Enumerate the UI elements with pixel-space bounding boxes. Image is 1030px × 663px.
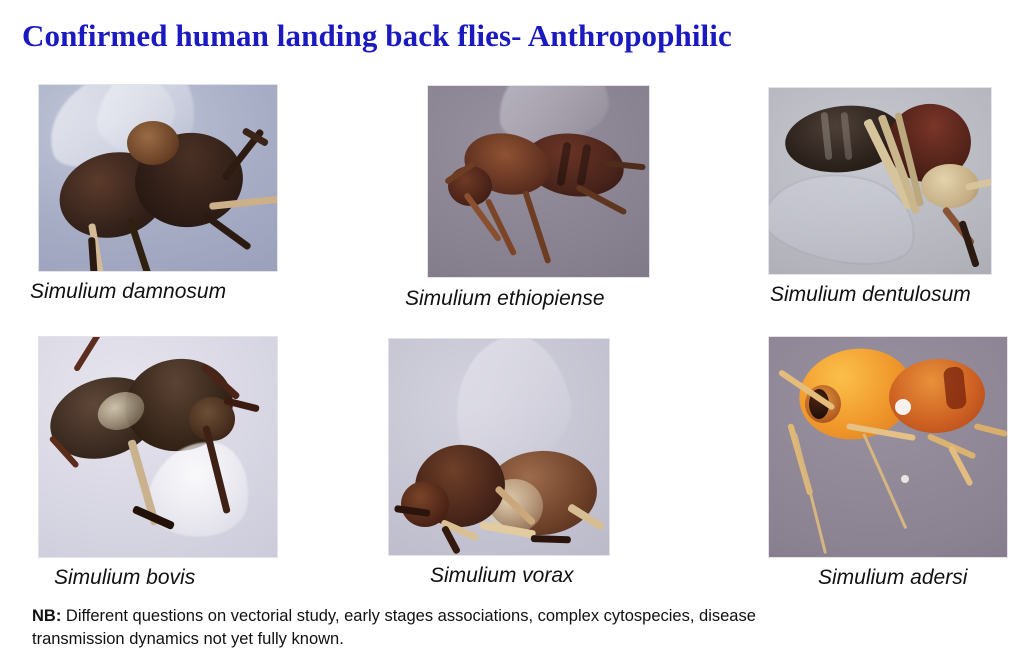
fly-head (127, 121, 179, 165)
figure-simulium-dentulosum: Simulium dentulosum (768, 87, 992, 275)
figure-simulium-bovis: Simulium bovis (38, 336, 278, 558)
caption-simulium-adersi: Simulium adersi (818, 566, 967, 590)
figure-simulium-ethiopiense: Simulium ethiopiense (427, 85, 650, 278)
caption-simulium-bovis: Simulium bovis (54, 566, 195, 590)
page-title: Confirmed human landing back flies- Anth… (22, 18, 982, 54)
footer-note: NB: Different questions on vectorial stu… (32, 605, 792, 651)
photo-simulium-bovis (38, 336, 278, 558)
fly-thorax-band (943, 366, 967, 410)
figure-simulium-vorax: Simulium vorax (388, 338, 610, 556)
figure-simulium-adersi: Simulium adersi (768, 336, 1008, 558)
caption-simulium-dentulosum: Simulium dentulosum (770, 283, 971, 307)
photo-simulium-ethiopiense (427, 85, 650, 278)
photo-simulium-damnosum (38, 84, 278, 272)
photo-simulium-adersi (768, 336, 1008, 558)
caption-simulium-damnosum: Simulium damnosum (30, 280, 226, 304)
fly-leg (531, 535, 571, 543)
fly-highlight-spot (901, 475, 909, 483)
figure-simulium-damnosum: Simulium damnosum (38, 84, 278, 272)
footer-nb-label: NB: (32, 607, 61, 625)
caption-simulium-ethiopiense: Simulium ethiopiense (405, 287, 605, 311)
caption-simulium-vorax: Simulium vorax (430, 564, 574, 588)
slide-canvas: Confirmed human landing back flies- Anth… (0, 0, 1030, 663)
fly-highlight-spot (895, 399, 911, 415)
footer-note-text: Different questions on vectorial study, … (32, 607, 756, 648)
photo-simulium-vorax (388, 338, 610, 556)
photo-simulium-dentulosum (768, 87, 992, 275)
